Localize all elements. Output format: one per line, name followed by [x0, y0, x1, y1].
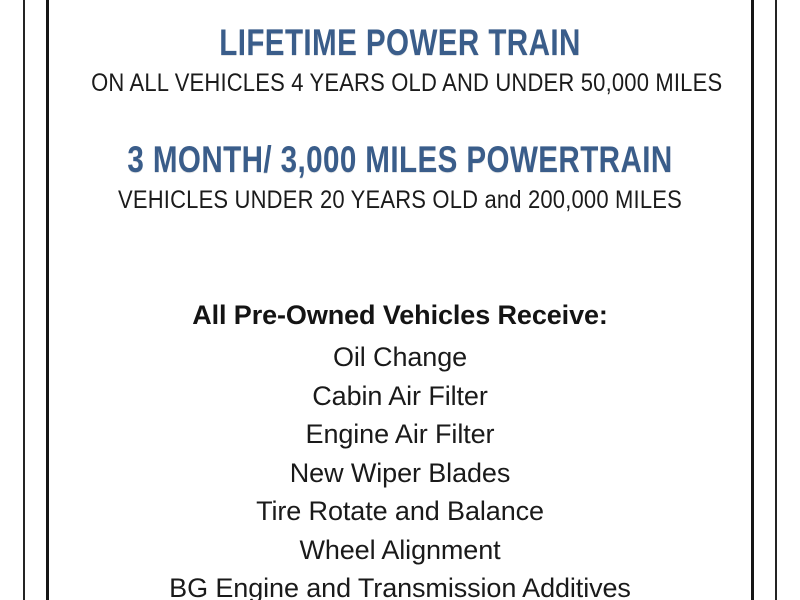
warranty-flyer: LIFETIME POWER TRAIN ON ALL VEHICLES 4 Y…: [0, 0, 800, 600]
service-item: Oil Change: [49, 338, 751, 377]
warranty-offer-title: 3 MONTH/ 3,000 MILES POWERTRAIN: [119, 139, 681, 181]
frame-rule-right-outer: [775, 0, 777, 600]
warranty-offer-subtitle: ON ALL VEHICLES 4 YEARS OLD AND UNDER 50…: [91, 68, 709, 98]
service-item: Engine Air Filter: [49, 415, 751, 454]
services-section: All Pre-Owned Vehicles Receive: Oil Chan…: [49, 299, 751, 600]
service-item: Cabin Air Filter: [49, 377, 751, 416]
frame-rule-left-outer: [23, 0, 25, 600]
warranty-offer-subtitle: VEHICLES UNDER 20 YEARS OLD and 200,000 …: [91, 185, 709, 215]
service-item: Tire Rotate and Balance: [49, 492, 751, 531]
services-heading: All Pre-Owned Vehicles Receive:: [49, 299, 751, 332]
service-item: Wheel Alignment: [49, 531, 751, 570]
services-list: Oil Change Cabin Air Filter Engine Air F…: [49, 338, 751, 600]
service-item: BG Engine and Transmission Additives: [49, 569, 751, 600]
frame-rule-right-inner: [751, 0, 754, 600]
warranty-offer-title: LIFETIME POWER TRAIN: [119, 22, 681, 64]
warranty-offer-lifetime-powertrain: LIFETIME POWER TRAIN ON ALL VEHICLES 4 Y…: [49, 22, 751, 98]
service-item: New Wiper Blades: [49, 454, 751, 493]
warranty-offer-3month-powertrain: 3 MONTH/ 3,000 MILES POWERTRAIN VEHICLES…: [49, 139, 751, 215]
flyer-content: LIFETIME POWER TRAIN ON ALL VEHICLES 4 Y…: [49, 0, 751, 600]
